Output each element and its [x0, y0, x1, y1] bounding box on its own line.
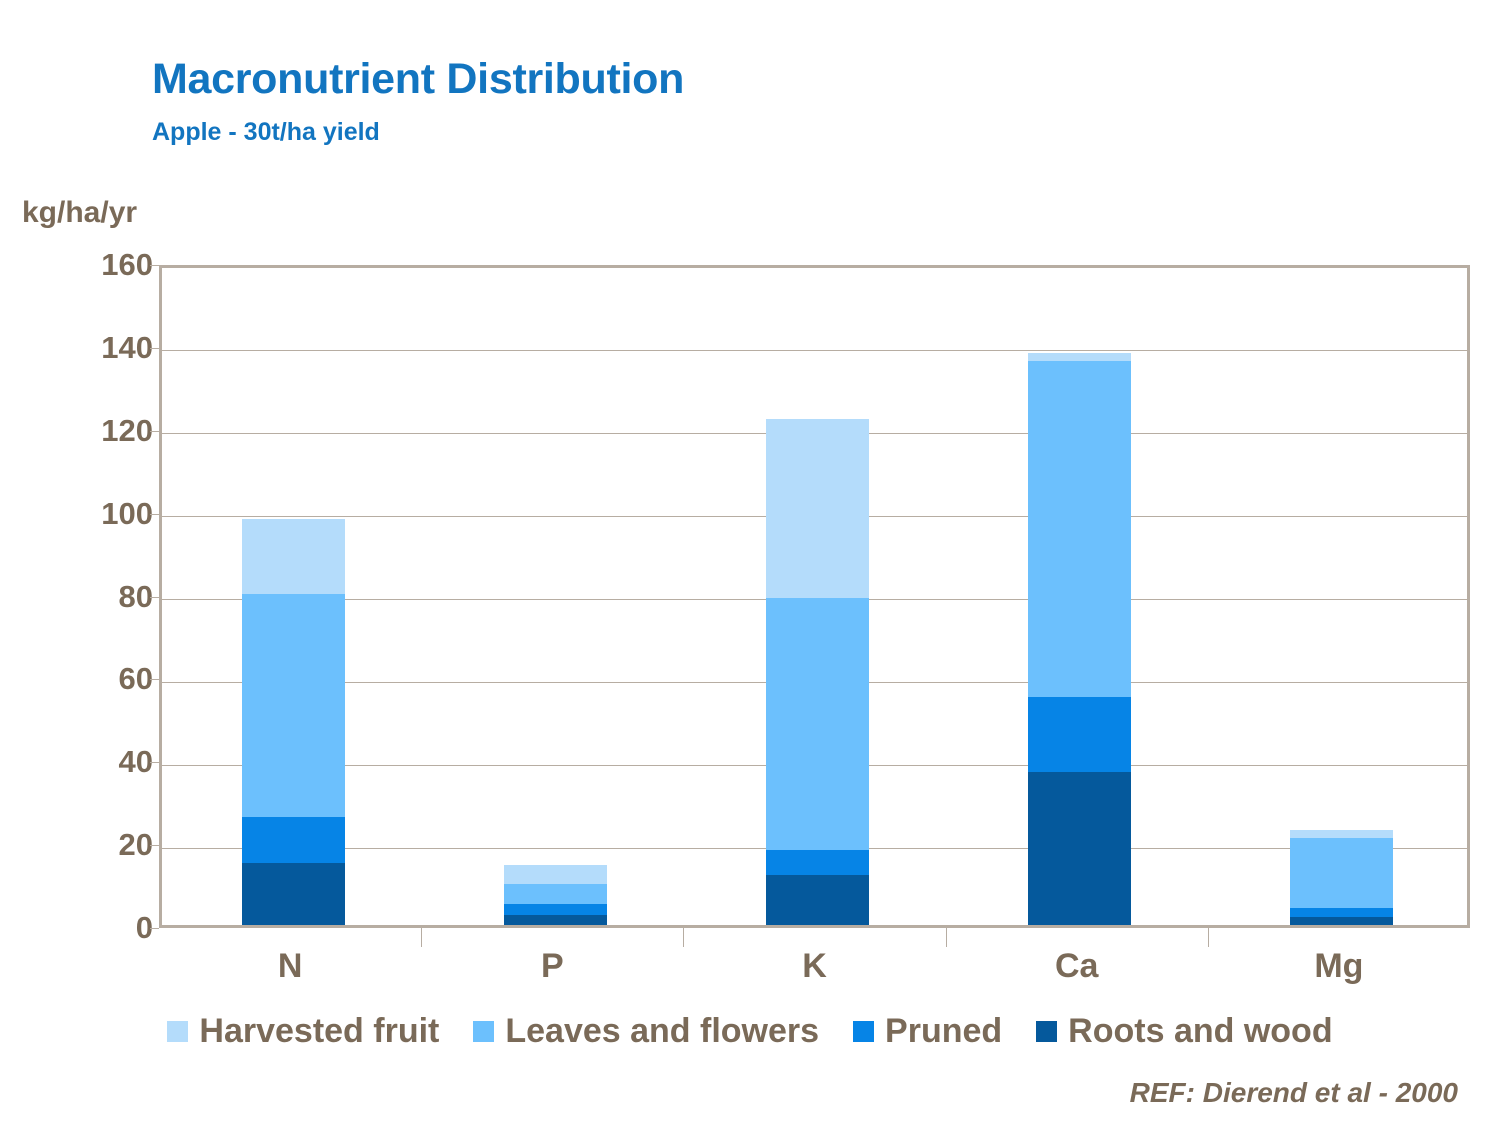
y-axis-tick-label: 160	[101, 247, 153, 283]
legend-item-harvested-fruit[interactable]: Harvested fruit	[167, 1014, 439, 1048]
y-axis-tick-mark	[150, 762, 159, 763]
legend-item-roots-and-wood[interactable]: Roots and wood	[1036, 1014, 1332, 1048]
x-axis-tick-mark	[1208, 928, 1209, 947]
y-axis-tick-label: 80	[119, 579, 153, 615]
y-axis-tick-label: 20	[119, 827, 153, 863]
y-axis-tick-mark	[150, 679, 159, 680]
y-axis-tick-label: 140	[101, 330, 153, 366]
y-axis-tick-mark	[150, 431, 159, 432]
y-axis-tick-mark	[150, 597, 159, 598]
reference-note: REF: Dierend et al - 2000	[1130, 1077, 1458, 1109]
bar-segment-n-leaves-and-flowers[interactable]	[242, 594, 345, 818]
y-axis-tick-mark	[150, 265, 159, 266]
x-axis-label-n: N	[278, 947, 303, 986]
legend-swatch-icon	[1036, 1021, 1057, 1042]
y-axis-tick-label: 40	[119, 744, 153, 780]
x-axis-label-k: K	[802, 947, 827, 986]
bar-segment-p-leaves-and-flowers[interactable]	[504, 884, 607, 905]
y-axis-unit-label: kg/ha/yr	[22, 196, 137, 230]
bar-segment-mg-roots-and-wood[interactable]	[1290, 917, 1393, 925]
y-axis-tick-label: 100	[101, 496, 153, 532]
legend-item-label: Harvested fruit	[199, 1014, 439, 1048]
y-axis-tick-label: 120	[101, 413, 153, 449]
bar-stack	[766, 419, 869, 925]
y-axis-tick-mark	[150, 845, 159, 846]
bar-stack	[1290, 830, 1393, 925]
x-axis-tick-mark	[683, 928, 684, 947]
bar-segment-ca-leaves-and-flowers[interactable]	[1028, 361, 1131, 697]
legend-item-label: Roots and wood	[1068, 1014, 1332, 1048]
legend-item-pruned[interactable]: Pruned	[853, 1014, 1002, 1048]
chart-legend: Harvested fruitLeaves and flowersPrunedR…	[0, 1014, 1500, 1048]
x-axis-label-ca: Ca	[1055, 947, 1098, 986]
bar-segment-ca-harvested-fruit[interactable]	[1028, 353, 1131, 361]
bar-segment-ca-roots-and-wood[interactable]	[1028, 772, 1131, 925]
bar-stack	[1028, 353, 1131, 925]
bar-segment-k-harvested-fruit[interactable]	[766, 419, 869, 597]
legend-item-label: Leaves and flowers	[505, 1014, 819, 1048]
x-axis-tick-mark	[946, 928, 947, 947]
gridline	[162, 350, 1467, 351]
legend-item-leaves-and-flowers[interactable]: Leaves and flowers	[473, 1014, 819, 1048]
y-axis-tick-label: 60	[119, 661, 153, 697]
legend-swatch-icon	[853, 1021, 874, 1042]
y-axis-tick-mark	[150, 928, 159, 929]
bar-stack	[504, 865, 607, 925]
x-axis-label-mg: Mg	[1314, 947, 1363, 986]
bar-segment-p-pruned[interactable]	[504, 904, 607, 914]
bar-segment-p-roots-and-wood[interactable]	[504, 915, 607, 925]
bar-segment-mg-leaves-and-flowers[interactable]	[1290, 838, 1393, 908]
legend-swatch-icon	[473, 1021, 494, 1042]
legend-swatch-icon	[167, 1021, 188, 1042]
bar-segment-n-pruned[interactable]	[242, 817, 345, 863]
page-subtitle: Apple - 30t/ha yield	[152, 118, 380, 147]
x-axis-tick-mark	[421, 928, 422, 947]
y-axis-tick-mark	[150, 514, 159, 515]
bar-segment-mg-harvested-fruit[interactable]	[1290, 830, 1393, 838]
plot-area	[159, 265, 1470, 928]
bar-stack	[242, 519, 345, 925]
bar-segment-n-harvested-fruit[interactable]	[242, 519, 345, 594]
y-axis-tick-mark	[150, 348, 159, 349]
bar-segment-k-leaves-and-flowers[interactable]	[766, 598, 869, 851]
bar-segment-ca-pruned[interactable]	[1028, 697, 1131, 772]
page-title: Macronutrient Distribution	[152, 55, 684, 104]
bar-segment-p-harvested-fruit[interactable]	[504, 865, 607, 884]
bar-segment-n-roots-and-wood[interactable]	[242, 863, 345, 925]
bar-segment-mg-pruned[interactable]	[1290, 908, 1393, 916]
bar-segment-k-pruned[interactable]	[766, 850, 869, 875]
legend-item-label: Pruned	[885, 1014, 1002, 1048]
bar-segment-k-roots-and-wood[interactable]	[766, 875, 869, 925]
x-axis-label-p: P	[541, 947, 564, 986]
